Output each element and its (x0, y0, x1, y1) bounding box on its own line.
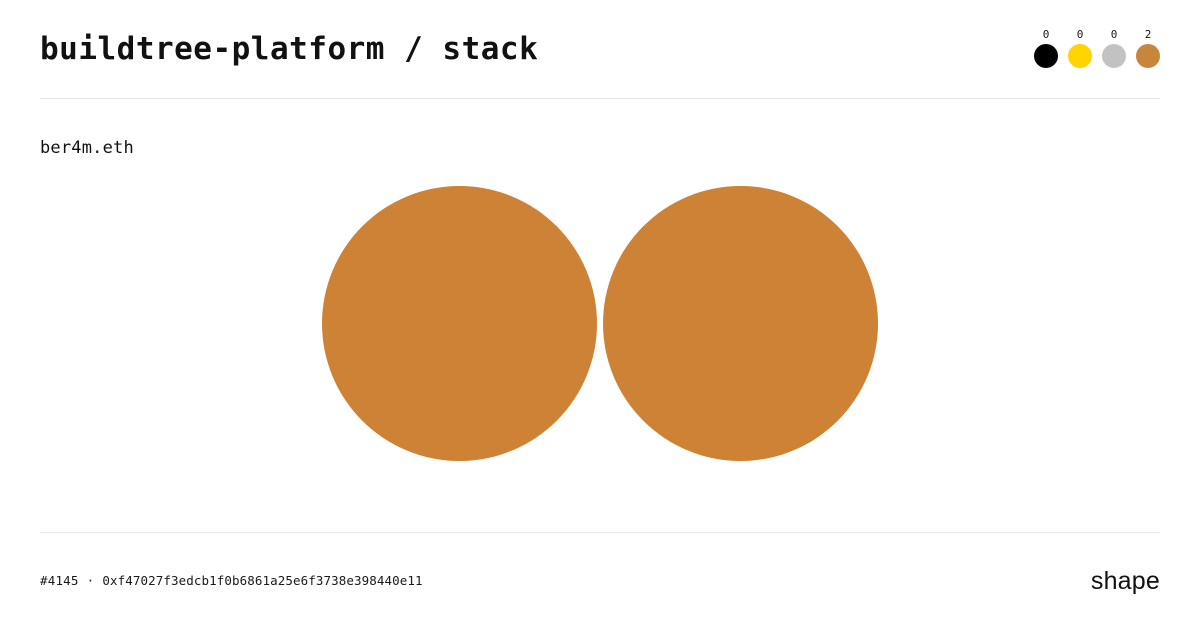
palette-legend: 0 0 0 2 (1034, 29, 1160, 70)
palette-count-orange: 2 (1145, 29, 1152, 40)
palette-count-black: 0 (1043, 29, 1050, 40)
page-title: buildtree-platform / stack (40, 34, 538, 65)
footer-meta: #4145 · 0xf47027f3edcb1f0b6861a25e6f3738… (40, 575, 423, 588)
palette-count-yellow: 0 (1077, 29, 1084, 40)
color-dot-black-icon (1034, 44, 1058, 68)
artwork-circle-right (603, 186, 878, 461)
palette-swatch-orange[interactable]: 2 (1136, 29, 1160, 68)
brand-logo: shape (1091, 569, 1160, 594)
footer: #4145 · 0xf47027f3edcb1f0b6861a25e6f3738… (40, 532, 1160, 630)
color-dot-yellow-icon (1068, 44, 1092, 68)
palette-swatch-black[interactable]: 0 (1034, 29, 1058, 68)
palette-swatch-yellow[interactable]: 0 (1068, 29, 1092, 68)
color-dot-orange-icon (1136, 44, 1160, 68)
artwork-circle-left (322, 186, 597, 461)
color-dot-gray-icon (1102, 44, 1126, 68)
footer-separator: · (87, 575, 95, 588)
token-id: #4145 (40, 575, 79, 588)
header: buildtree-platform / stack 0 0 0 2 (40, 0, 1160, 99)
artwork-canvas (0, 175, 1200, 475)
palette-swatch-gray[interactable]: 0 (1102, 29, 1126, 68)
contract-address: 0xf47027f3edcb1f0b6861a25e6f3738e398440e… (102, 575, 422, 588)
palette-count-gray: 0 (1111, 29, 1118, 40)
page-root: buildtree-platform / stack 0 0 0 2 ber4m… (0, 0, 1200, 630)
owner-name: ber4m.eth (40, 140, 134, 157)
